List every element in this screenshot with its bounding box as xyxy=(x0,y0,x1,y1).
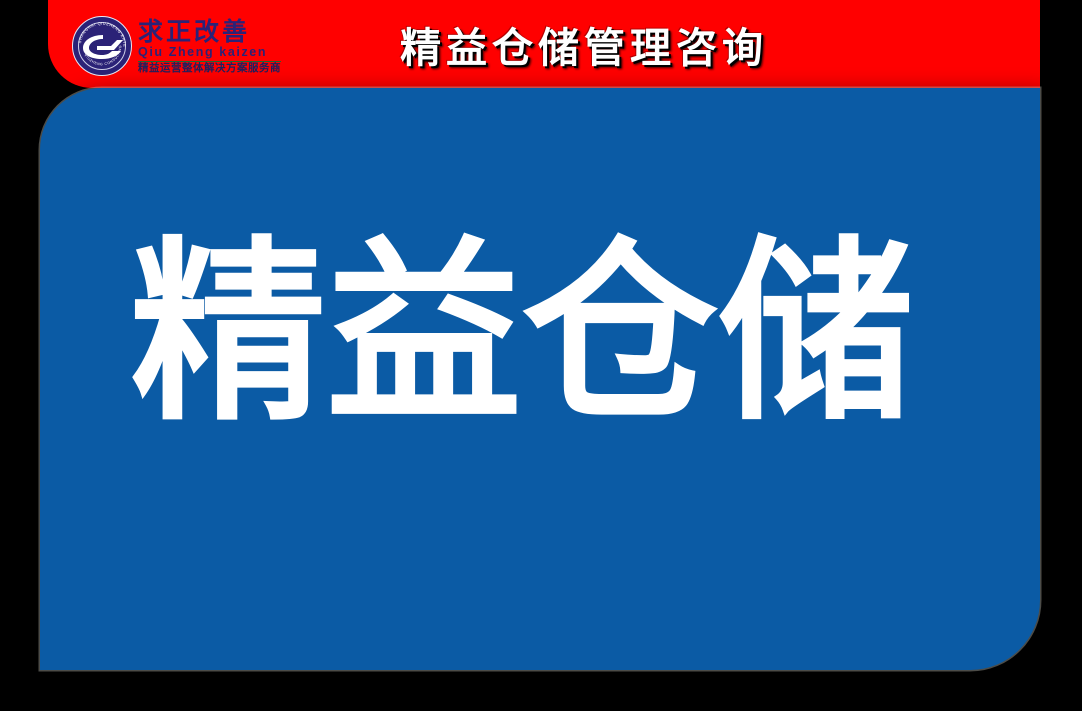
header-banner: SHANGHAI QIUZHENG ENTERPRISE MANAGEMENT … xyxy=(48,0,1040,88)
content-panel: 精益仓储 xyxy=(40,88,1040,670)
slide-main-title: 精益仓储 xyxy=(40,236,1040,432)
slide-canvas: SHANGHAI QIUZHENG ENTERPRISE MANAGEMENT … xyxy=(0,0,1082,711)
header-title: 精益仓储管理咨询 xyxy=(48,14,1040,74)
